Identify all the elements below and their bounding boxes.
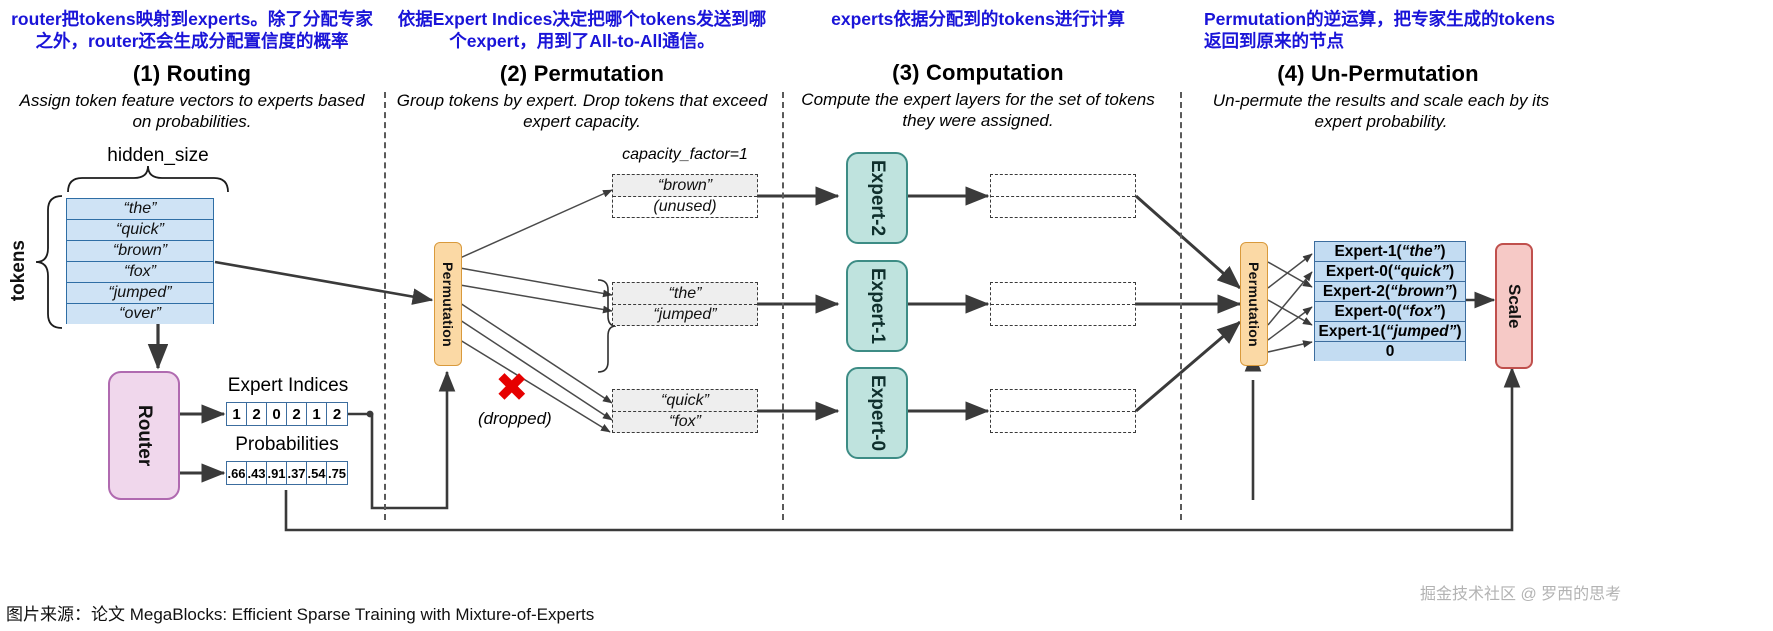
result-row: Expert-0(“quick”) — [1315, 262, 1465, 282]
result-row: Expert-1(“jumped”) — [1315, 322, 1465, 342]
scale-label: Scale — [1504, 284, 1524, 328]
probability-cell: .66 — [227, 462, 247, 484]
capacity-factor-label: capacity_factor=1 — [612, 146, 758, 164]
un-permutation-bar[interactable]: Permutation — [1240, 242, 1268, 366]
permutation-bar-label: Permutation — [440, 262, 456, 347]
token-row: “fox” — [67, 262, 213, 283]
expert-output-box-1 — [990, 282, 1136, 326]
stage-subtitle-3: Compute the expert layers for the set of… — [792, 90, 1164, 131]
token-row: “brown” — [67, 241, 213, 262]
permutation-group-row: “quick” — [613, 390, 757, 412]
result-expert: Expert-1 — [1319, 323, 1381, 341]
stage-separator-2 — [782, 92, 784, 520]
stage-title-3: (3) Computation — [792, 60, 1164, 86]
stage-separator-1 — [384, 92, 386, 520]
token-row: “jumped” — [67, 283, 213, 304]
expert-output-row — [991, 283, 1135, 305]
token-row: “over” — [67, 304, 213, 324]
stage-header-computation: experts依据分配到的tokens进行计算 (3) Computation … — [792, 8, 1164, 132]
expert-output-row — [991, 197, 1135, 217]
hidden-size-label: hidden_size — [82, 145, 234, 167]
result-row-zero: 0 — [1315, 342, 1465, 361]
result-expert: Expert-0 — [1334, 303, 1396, 321]
result-table: Expert-1(“the”) Expert-0(“quick”) Expert… — [1314, 241, 1466, 361]
token-matrix: “the” “quick” “brown” “fox” “jumped” “ov… — [66, 198, 214, 324]
expert-block-0[interactable]: Expert-0 — [846, 367, 908, 459]
stage-cn-note-4: Permutation的逆运算，把专家生成的tokens返回到原来的节点 — [1188, 8, 1568, 53]
stage-separator-3 — [1180, 92, 1182, 520]
probabilities-row: .66 .43 .91 .37 .54 .75 — [226, 461, 348, 485]
token-row: “quick” — [67, 220, 213, 241]
expert-output-row — [991, 175, 1135, 197]
result-token: “the” — [1402, 243, 1441, 261]
expert-index-cell: 0 — [267, 403, 287, 425]
expert-index-cell: 1 — [227, 403, 247, 425]
expert-output-box-2 — [990, 174, 1136, 218]
stage-title-4: (4) Un-Permutation — [1188, 61, 1568, 87]
scale-block[interactable]: Scale — [1495, 243, 1533, 369]
permutation-bar[interactable]: Permutation — [434, 242, 462, 366]
permutation-group-expert-0: “quick” “fox” — [612, 389, 758, 433]
router-block[interactable]: Router — [108, 371, 180, 500]
expert-label: Expert-1 — [866, 268, 888, 344]
probability-cell: .43 — [247, 462, 267, 484]
result-token: “fox” — [1402, 303, 1441, 321]
probability-cell: .54 — [307, 462, 327, 484]
result-token: “brown” — [1390, 283, 1452, 301]
source-caption: 图片来源：论文 MegaBlocks: Efficient Sparse Tra… — [6, 600, 594, 625]
red-x-icon: ✖ — [495, 368, 529, 408]
expert-indices-row: 1 2 0 2 1 2 — [226, 402, 348, 426]
result-expert: 0 — [1386, 343, 1395, 361]
stage-title-1: (1) Routing — [8, 61, 376, 87]
stage-title-2: (2) Permutation — [396, 61, 768, 87]
expert-output-row — [991, 390, 1135, 412]
stage-subtitle-1: Assign token feature vectors to experts … — [8, 91, 376, 132]
result-expert: Expert-1 — [1334, 243, 1396, 261]
expert-output-box-0 — [990, 389, 1136, 433]
probability-cell: .37 — [287, 462, 307, 484]
expert-index-cell: 2 — [247, 403, 267, 425]
probability-cell: .75 — [327, 462, 347, 484]
tokens-label: tokens — [8, 240, 30, 301]
result-row: Expert-1(“the”) — [1315, 242, 1465, 262]
stage-cn-note-1: router把tokens映射到experts。除了分配专家之外，router还… — [8, 8, 376, 53]
result-expert: Expert-0 — [1326, 263, 1388, 281]
permutation-group-expert-2: “brown” (unused) — [612, 174, 758, 218]
result-token: “quick” — [1393, 263, 1449, 281]
probabilities-label: Probabilities — [222, 434, 352, 456]
expert-indices-label: Expert Indices — [224, 375, 352, 397]
expert-index-cell: 1 — [307, 403, 327, 425]
expert-block-1[interactable]: Expert-1 — [846, 260, 908, 352]
expert-output-row — [991, 412, 1135, 432]
expert-index-cell: 2 — [287, 403, 307, 425]
permutation-group-row: “jumped” — [613, 305, 757, 325]
permutation-group-row: “fox” — [613, 412, 757, 432]
un-permutation-bar-label: Permutation — [1246, 262, 1262, 347]
expert-label: Expert-2 — [866, 160, 888, 236]
result-row: Expert-2(“brown”) — [1315, 282, 1465, 302]
probability-cell: .91 — [267, 462, 287, 484]
watermark: 掘金技术社区 @ 罗西的思考 — [1420, 580, 1621, 604]
stage-header-permutation: 依据Expert Indices决定把哪个tokens发送到哪个expert，用… — [396, 8, 768, 132]
result-row: Expert-0(“fox”) — [1315, 302, 1465, 322]
expert-block-2[interactable]: Expert-2 — [846, 152, 908, 244]
stage-header-unpermutation: Permutation的逆运算，把专家生成的tokens返回到原来的节点 (4)… — [1188, 8, 1568, 132]
dropped-label: (dropped) — [478, 409, 552, 429]
expert-label: Expert-0 — [866, 375, 888, 451]
stage-subtitle-2: Group tokens by expert. Drop tokens that… — [396, 91, 768, 132]
permutation-group-expert-1: “the” “jumped” — [612, 282, 758, 326]
expert-output-row — [991, 305, 1135, 325]
stage-cn-note-3: experts依据分配到的tokens进行计算 — [792, 8, 1164, 30]
stage-subtitle-4: Un-permute the results and scale each by… — [1188, 91, 1574, 132]
router-label: Router — [133, 405, 155, 466]
result-token: “jumped” — [1386, 323, 1457, 341]
permutation-group-row: “the” — [613, 283, 757, 305]
permutation-group-row-unused: (unused) — [613, 197, 757, 217]
result-expert: Expert-2 — [1323, 283, 1385, 301]
stage-cn-note-2: 依据Expert Indices决定把哪个tokens发送到哪个expert，用… — [396, 8, 768, 53]
token-row: “the” — [67, 199, 213, 220]
expert-index-cell: 2 — [327, 403, 347, 425]
stage-header-routing: router把tokens映射到experts。除了分配专家之外，router还… — [8, 8, 376, 132]
permutation-group-row: “brown” — [613, 175, 757, 197]
